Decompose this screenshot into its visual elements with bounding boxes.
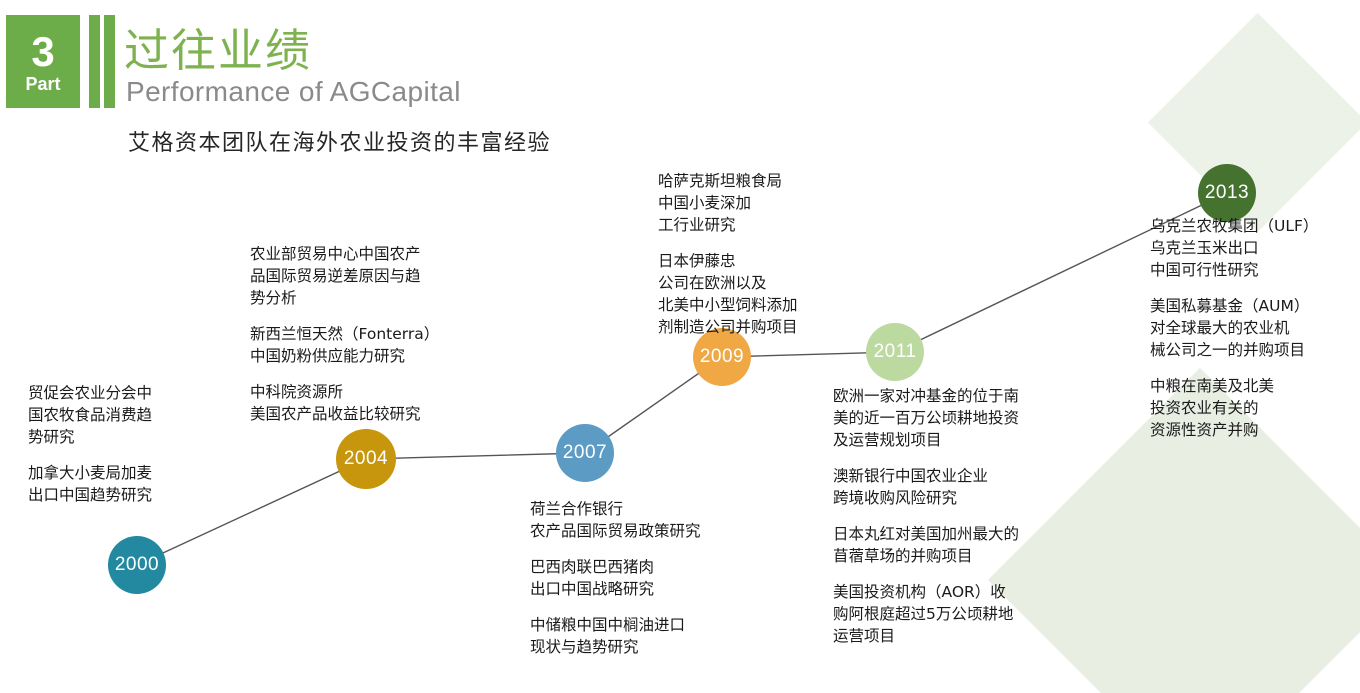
timeline-node-label: 2013 (1205, 182, 1249, 204)
milestone-item: 新西兰恒天然（Fonterra） 中国奶粉供应能力研究 (250, 323, 480, 367)
timeline-node-label: 2009 (700, 346, 744, 368)
milestone-item: 美国投资机构（AOR）收 购阿根庭超过5万公顷耕地 运营项目 (833, 581, 1068, 647)
timeline-node-2000[interactable]: 2000 (108, 536, 166, 594)
milestone-item: 乌克兰农牧集团（ULF） 乌克兰玉米出口 中国可行性研究 (1150, 215, 1360, 281)
milestone-block-2011: 欧洲一家对冲基金的位于南 美的近一百万公顷耕地投资 及运营规划项目澳新银行中国农… (833, 385, 1068, 647)
milestone-block-2013: 乌克兰农牧集团（ULF） 乌克兰玉米出口 中国可行性研究美国私募基金（AUM） … (1150, 215, 1360, 441)
milestone-item: 中科院资源所 美国农产品收益比较研究 (250, 381, 480, 425)
milestone-item: 澳新银行中国农业企业 跨境收购风险研究 (833, 465, 1068, 509)
milestone-item: 日本丸红对美国加州最大的 苜蓿草场的并购项目 (833, 523, 1068, 567)
milestone-block-2009: 哈萨克斯坦粮食局 中国小麦深加 工行业研究日本伊藤忠 公司在欧洲以及 北美中小型… (658, 170, 898, 338)
milestone-item: 哈萨克斯坦粮食局 中国小麦深加 工行业研究 (658, 170, 898, 236)
timeline-node-label: 2000 (115, 554, 159, 576)
milestone-item: 加拿大小麦局加麦 出口中国趋势研究 (28, 462, 228, 506)
timeline-node-label: 2007 (563, 442, 607, 464)
milestone-item: 贸促会农业分会中 国农牧食品消费趋 势研究 (28, 382, 228, 448)
timeline-node-2013[interactable]: 2013 (1198, 164, 1256, 222)
timeline-node-2004[interactable]: 2004 (336, 429, 396, 489)
milestone-block-2004: 农业部贸易中心中国农产 品国际贸易逆差原因与趋 势分析新西兰恒天然（Fonter… (250, 243, 480, 425)
timeline-node-label: 2004 (344, 448, 388, 470)
milestone-item: 日本伊藤忠 公司在欧洲以及 北美中小型饲料添加 剂制造公司并购项目 (658, 250, 898, 338)
milestone-block-2007: 荷兰合作银行 农产品国际贸易政策研究巴西肉联巴西猪肉 出口中国战略研究中储粮中国… (530, 498, 770, 658)
timeline-node-label: 2011 (874, 341, 917, 363)
milestone-item: 中粮在南美及北美 投资农业有关的 资源性资产并购 (1150, 375, 1360, 441)
milestone-item: 欧洲一家对冲基金的位于南 美的近一百万公顷耕地投资 及运营规划项目 (833, 385, 1068, 451)
milestone-item: 中储粮中国中榈油进口 现状与趋势研究 (530, 614, 770, 658)
milestone-item: 农业部贸易中心中国农产 品国际贸易逆差原因与趋 势分析 (250, 243, 480, 309)
timeline-node-2007[interactable]: 2007 (556, 424, 614, 482)
milestone-item: 巴西肉联巴西猪肉 出口中国战略研究 (530, 556, 770, 600)
milestone-item: 美国私募基金（AUM） 对全球最大的农业机 械公司之一的并购项目 (1150, 295, 1360, 361)
milestone-item: 荷兰合作银行 农产品国际贸易政策研究 (530, 498, 770, 542)
slide-canvas: 3 Part 过往业绩 Performance of AGCapital 艾格资… (0, 0, 1360, 693)
milestone-block-2000: 贸促会农业分会中 国农牧食品消费趋 势研究加拿大小麦局加麦 出口中国趋势研究 (28, 382, 228, 506)
